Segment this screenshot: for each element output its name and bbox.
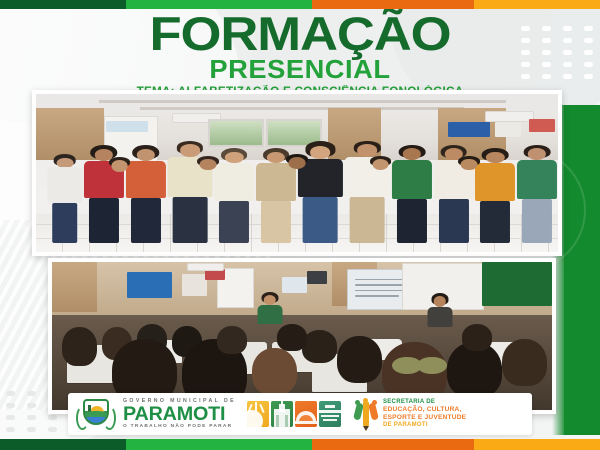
brasao-icon: [76, 397, 116, 431]
quad-tile-ponte: [295, 401, 317, 427]
bottom-bar-segment-dark-green: [0, 439, 126, 450]
quad-logo: [247, 401, 341, 427]
quad-tile-sol: [247, 401, 269, 427]
prefeitura-name: PARAMOTI: [123, 405, 240, 424]
top-bar-segment-amber: [474, 0, 600, 9]
bottom-bar-segment-bright-green: [126, 439, 312, 450]
photo-audience-image: [52, 262, 552, 410]
footer-logo-card: GOVERNO MUNICIPAL DE PARAMOTI O TRABALHO…: [68, 393, 532, 435]
secretaria-line-3: ESPORTE E JUVENTUDE: [383, 414, 466, 422]
top-color-bar: [0, 0, 600, 9]
secretaria-line-2: EDUCAÇÃO, CULTURA,: [383, 406, 466, 414]
photo-audience-room: [52, 262, 552, 410]
secretaria-line-1: SECRETARIA DE: [383, 399, 466, 406]
secretaria-pencil-icon: [354, 399, 378, 429]
title-presencial: PRESENCIAL: [0, 56, 600, 82]
secretaria-line-4: DE PARAMOTI: [383, 422, 466, 429]
top-bar-segment-dark-green: [0, 0, 126, 9]
prefeitura-slogan: O TRABALHO NÃO PODE PARAR: [123, 425, 236, 430]
title-formacao: FORMAÇÃO: [0, 12, 600, 55]
photo-audience: [48, 258, 556, 414]
header-block: FORMAÇÃO PRESENCIAL TEMA: ALFABETIZAÇÃO …: [0, 12, 600, 98]
green-side-panel: [564, 105, 600, 435]
photo-group: [32, 90, 562, 256]
top-bar-segment-orange: [312, 0, 474, 9]
top-bar-segment-bright-green: [126, 0, 312, 9]
bottom-color-bar: [0, 439, 600, 450]
flyer-canvas: FORMAÇÃO PRESENCIAL TEMA: ALFABETIZAÇÃO …: [0, 0, 600, 450]
photo-group-room: [36, 94, 558, 252]
secretaria-text: SECRETARIA DE EDUCAÇÃO, CULTURA, ESPORTE…: [383, 399, 466, 430]
quad-tile-acude: [319, 401, 341, 427]
secretaria-logo: SECRETARIA DE EDUCAÇÃO, CULTURA, ESPORTE…: [354, 399, 466, 430]
prefeitura-wordmark: GOVERNO MUNICIPAL DE PARAMOTI O TRABALHO…: [123, 399, 236, 430]
bottom-bar-segment-orange: [312, 439, 474, 450]
quad-tile-igreja: [271, 401, 293, 427]
photo-group-image: [36, 94, 558, 252]
bottom-bar-segment-amber: [474, 439, 600, 450]
